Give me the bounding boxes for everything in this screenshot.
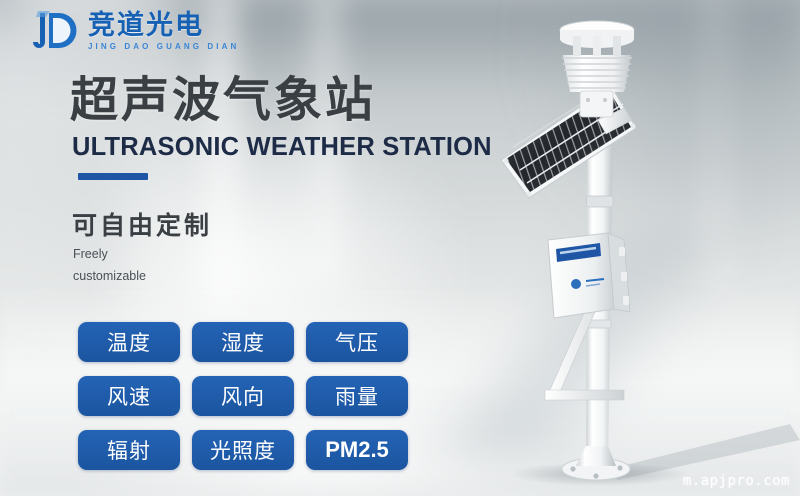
tag-rainfall[interactable]: 雨量 (306, 376, 408, 416)
product-banner: 竞道光电 JING DAO GUANG DIAN 超声波气象站 ULTRASON… (0, 0, 800, 496)
customization-heading: 可自由定制 (72, 206, 212, 242)
brand-name-cn: 竞道光电 (88, 12, 239, 39)
customization-line-1: Freely (73, 243, 146, 265)
background-shade-right (530, 0, 800, 260)
brand-logo: 竞道光电 JING DAO GUANG DIAN (28, 9, 239, 53)
measurement-tag-grid: 温度 湿度 气压 风速 风向 雨量 辐射 光照度 PM2.5 (78, 322, 408, 470)
tag-pm25[interactable]: PM2.5 (306, 430, 408, 470)
customization-subtext: Freely customizable (73, 243, 146, 287)
customization-line-2: customizable (73, 265, 146, 287)
tag-radiation[interactable]: 辐射 (78, 430, 180, 470)
tag-wind-direction[interactable]: 风向 (192, 376, 294, 416)
jd-monogram-icon (28, 9, 82, 53)
brand-name-en: JING DAO GUANG DIAN (88, 43, 239, 51)
tag-wind-speed[interactable]: 风速 (78, 376, 180, 416)
tag-humidity[interactable]: 湿度 (192, 322, 294, 362)
title-divider (78, 173, 148, 180)
site-watermark: m.apjpro.com (683, 473, 790, 489)
tag-illuminance[interactable]: 光照度 (192, 430, 294, 470)
page-subtitle-en: ULTRASONIC WEATHER STATION (72, 133, 492, 162)
tag-air-pressure[interactable]: 气压 (306, 322, 408, 362)
tag-temperature[interactable]: 温度 (78, 322, 180, 362)
page-title: 超声波气象站 (70, 76, 376, 127)
